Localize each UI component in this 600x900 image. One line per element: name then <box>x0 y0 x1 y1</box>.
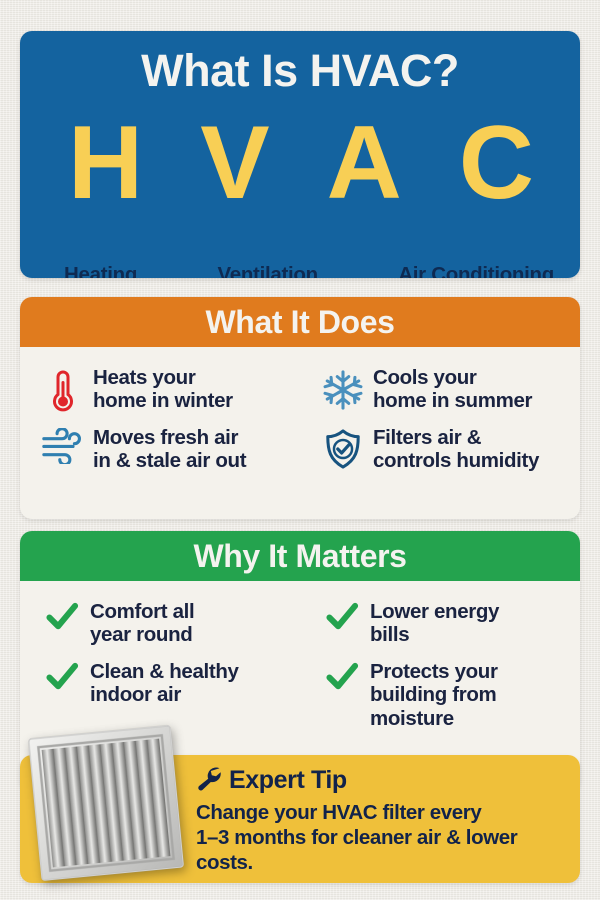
infographic-page: What Is HVAC? H V A C Heating Ventilatio… <box>0 0 600 900</box>
list-item: Lower energy bills <box>300 593 580 653</box>
thermometer-icon <box>42 366 84 412</box>
list-item: Comfort all year round <box>20 593 300 653</box>
list-item: Moves fresh air in & stale air out <box>20 419 300 479</box>
wind-icon <box>42 426 84 464</box>
expert-tip-heading-label: Expert Tip <box>229 768 347 793</box>
air-filter-photo <box>23 720 189 886</box>
check-icon <box>326 660 359 692</box>
hvac-letter-a: A <box>327 116 400 212</box>
hvac-letter-v: V <box>200 116 267 212</box>
list-item-label: Protects your building from moisture <box>370 660 498 729</box>
check-icon <box>46 600 79 632</box>
hvac-word-air-conditioning: Air Conditioning <box>398 263 554 278</box>
hvac-word-ventilation: Ventilation <box>217 263 317 278</box>
check-icon <box>46 660 79 692</box>
list-item: Heats your home in winter <box>20 359 300 419</box>
list-item-label: Cools your home in summer <box>373 366 532 412</box>
list-item: Filters air & controls humidity <box>300 419 580 479</box>
list-item-label: Clean & healthy indoor air <box>90 660 239 706</box>
what-it-does-card: What It Does Heats your home in winter <box>20 297 580 519</box>
snowflake-icon <box>322 366 364 412</box>
why-it-matters-heading: Why It Matters <box>20 531 580 581</box>
why-it-matters-grid: Comfort all year round Lower energy bill… <box>20 581 580 737</box>
list-item-label: Filters air & controls humidity <box>373 426 539 472</box>
hvac-letter-h: H <box>68 116 141 212</box>
expert-tip-body: Expert Tip Change your HVAC filter every… <box>196 765 568 875</box>
check-icon <box>326 600 359 632</box>
list-item-label: Heats your home in winter <box>93 366 233 412</box>
hvac-word-heating: Heating <box>64 263 137 278</box>
hero-card: What Is HVAC? H V A C Heating Ventilatio… <box>20 31 580 278</box>
list-item: Protects your building from moisture <box>300 653 580 736</box>
list-item-label: Comfort all year round <box>90 600 194 646</box>
wrench-icon <box>196 765 222 796</box>
list-item: Cools your home in summer <box>300 359 580 419</box>
hvac-words: Heating Ventilation Air Conditioning <box>42 263 562 278</box>
shield-check-icon <box>322 426 364 470</box>
page-title: What Is HVAC? <box>20 48 580 93</box>
hvac-letter-c: C <box>459 116 532 212</box>
expert-tip-heading: Expert Tip <box>196 765 568 796</box>
list-item-label: Lower energy bills <box>370 600 499 646</box>
hvac-letters: H V A C <box>68 116 532 212</box>
what-it-does-heading: What It Does <box>20 297 580 347</box>
expert-tip-text: Change your HVAC filter every 1–3 months… <box>196 800 568 875</box>
what-it-does-grid: Heats your home in winter <box>20 347 580 480</box>
list-item-label: Moves fresh air in & stale air out <box>93 426 246 472</box>
